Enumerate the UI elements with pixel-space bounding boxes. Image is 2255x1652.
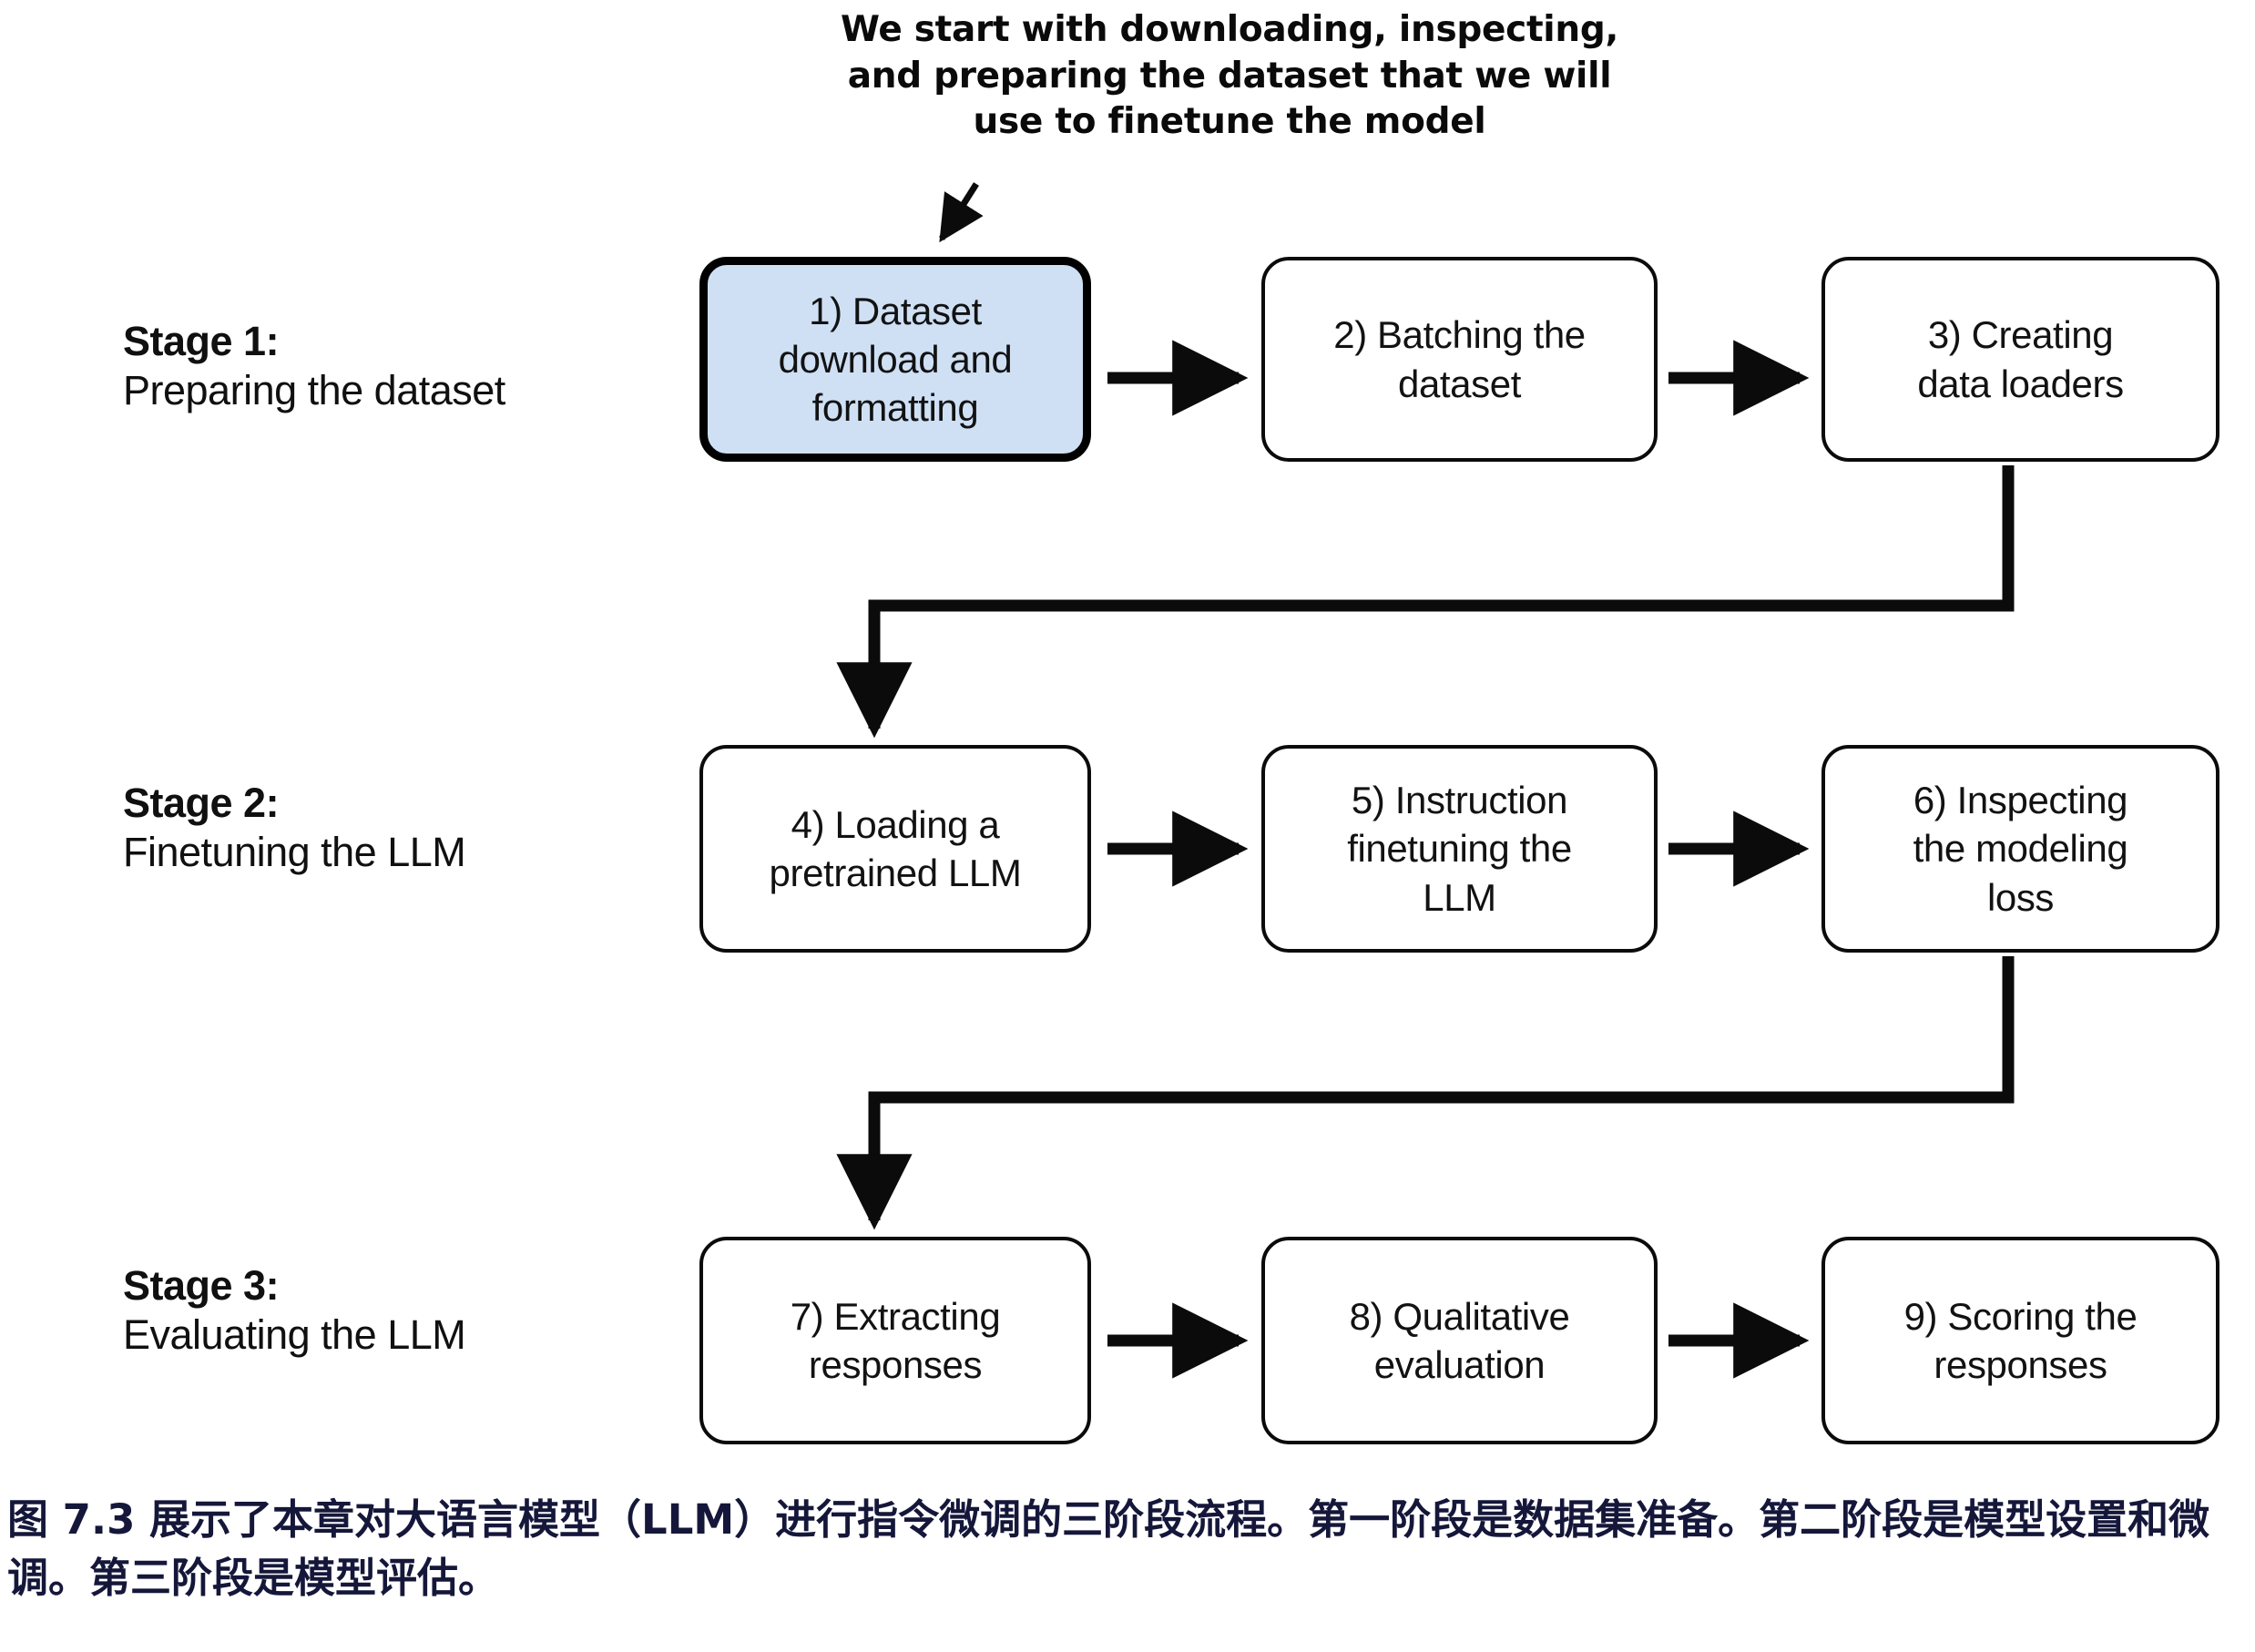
- callout-line-1: We start with downloading, inspecting,: [820, 7, 1639, 54]
- step-box-4-label: 4) Loading a pretrained LLM: [770, 801, 1022, 898]
- figure-caption: 图 7.3 展示了本章对大语言模型（LLM）进行指令微调的三阶段流程。第一阶段是…: [7, 1491, 2250, 1607]
- step-box-1[interactable]: 1) Dataset download and formatting: [699, 257, 1091, 462]
- stage-label-3: Stage 3: Evaluating the LLM: [123, 1261, 706, 1361]
- stage-label-2: Stage 2: Finetuning the LLM: [123, 779, 706, 878]
- stage-3-subtitle: Evaluating the LLM: [123, 1310, 706, 1361]
- figure-canvas: We start with downloading, inspecting, a…: [0, 0, 2255, 1652]
- step-box-6[interactable]: 6) Inspecting the modeling loss: [1821, 745, 2219, 953]
- step-box-5[interactable]: 5) Instruction finetuning the LLM: [1261, 745, 1658, 953]
- step-box-2[interactable]: 2) Batching the dataset: [1261, 257, 1658, 462]
- connector-stage1-to-stage2: [874, 465, 2008, 729]
- stage-1-title: Stage 1:: [123, 317, 706, 365]
- callout-pointer-arrow: [942, 184, 976, 239]
- step-box-8[interactable]: 8) Qualitative evaluation: [1261, 1237, 1658, 1444]
- connector-stage2-to-stage3: [874, 956, 2008, 1220]
- step-box-1-label: 1) Dataset download and formatting: [779, 287, 1013, 433]
- callout-line-3: use to finetune the model: [820, 99, 1639, 146]
- step-box-9[interactable]: 9) Scoring the responses: [1821, 1237, 2219, 1444]
- step-box-5-label: 5) Instruction finetuning the LLM: [1347, 776, 1572, 922]
- step-box-4[interactable]: 4) Loading a pretrained LLM: [699, 745, 1091, 953]
- callout-annotation: We start with downloading, inspecting, a…: [820, 7, 1639, 146]
- stage-2-title: Stage 2:: [123, 779, 706, 827]
- step-box-7[interactable]: 7) Extracting responses: [699, 1237, 1091, 1444]
- step-box-3[interactable]: 3) Creating data loaders: [1821, 257, 2219, 462]
- step-box-9-label: 9) Scoring the responses: [1904, 1292, 2138, 1390]
- step-box-7-label: 7) Extracting responses: [791, 1292, 1001, 1390]
- step-box-3-label: 3) Creating data loaders: [1917, 311, 2123, 408]
- step-box-8-label: 8) Qualitative evaluation: [1350, 1292, 1570, 1390]
- stage-3-title: Stage 3:: [123, 1261, 706, 1310]
- step-box-6-label: 6) Inspecting the modeling loss: [1913, 776, 2128, 922]
- stage-1-subtitle: Preparing the dataset: [123, 365, 706, 416]
- callout-line-2: and preparing the dataset that we will: [820, 54, 1639, 100]
- stage-label-1: Stage 1: Preparing the dataset: [123, 317, 706, 416]
- stage-2-subtitle: Finetuning the LLM: [123, 827, 706, 878]
- step-box-2-label: 2) Batching the dataset: [1333, 311, 1586, 408]
